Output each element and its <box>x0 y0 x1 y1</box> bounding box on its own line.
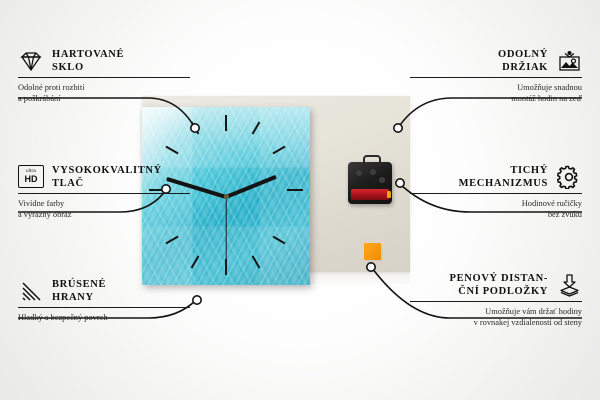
feature-edges-head: BRÚSENÉ HRANY <box>18 278 190 307</box>
feature-mechanism-title: TICHÝ MECHANIZMUS <box>459 164 548 190</box>
feature-foam-title: PENOVÝ DISTAN- ČNÍ PODLOŽKY <box>450 272 548 298</box>
feature-foam: PENOVÝ DISTAN- ČNÍ PODLOŽKY Umožňuje vám… <box>410 272 582 328</box>
hour-marker <box>191 121 200 134</box>
gear-icon <box>556 165 582 189</box>
hour-marker <box>252 121 261 134</box>
feature-holder-title: ODOLNÝ DRŽIAK <box>498 48 548 74</box>
hour-marker <box>272 146 285 155</box>
feature-glass-head: HARTOVANÉ SKLO <box>18 48 190 77</box>
feature-holder-head: ODOLNÝ DRŽIAK <box>410 48 582 77</box>
feature-glass: HARTOVANÉ SKLO Odolné proti rozbití a po… <box>18 48 190 104</box>
hour-marker <box>287 189 303 191</box>
hour-marker <box>272 236 285 245</box>
hour-marker <box>191 255 200 268</box>
feature-edges: BRÚSENÉ HRANY Hladký a bezpečný povrch <box>18 278 190 323</box>
clock-center-pin <box>224 194 229 199</box>
diamond-icon <box>18 49 44 73</box>
mechanism-detail <box>353 168 387 186</box>
feature-edges-title: BRÚSENÉ HRANY <box>52 278 106 304</box>
feature-mechanism-desc: Hodinové ručičky bez zvuku <box>410 194 582 220</box>
ultra-hd-icon: ultra HD <box>18 165 44 189</box>
beveled-edges-icon <box>18 279 44 303</box>
feature-holder: ODOLNÝ DRŽIAK Umožňuje snadnou montáž ho… <box>410 48 582 104</box>
hour-marker <box>225 115 227 131</box>
infographic-canvas: HARTOVANÉ SKLO Odolné proti rozbití a po… <box>0 0 600 400</box>
mechanism-hanger <box>363 155 381 166</box>
clock-hour-hand <box>225 175 277 199</box>
feature-print-desc: Vivídne farby a výrazný obraz <box>18 194 190 220</box>
feature-glass-desc: Odolné proti rozbití a poškrábání <box>18 78 190 104</box>
feature-edges-desc: Hladký a bezpečný povrch <box>18 308 190 323</box>
feature-holder-desc: Umožňuje snadnou montáž hodin na zeď <box>410 78 582 104</box>
wall-hanger-icon <box>556 49 582 73</box>
hour-marker <box>252 255 261 268</box>
hour-marker <box>165 236 178 245</box>
feature-print-head: ultra HD VYSOKOKVALITNÝ TLAČ <box>18 164 190 193</box>
feature-foam-desc: Umožňuje vám držať hodiny v rovnakej vzd… <box>410 302 582 328</box>
feature-glass-title: HARTOVANÉ SKLO <box>52 48 124 74</box>
foam-spacer-icon <box>556 273 582 297</box>
feature-print: ultra HD VYSOKOKVALITNÝ TLAČ Vivídne far… <box>18 164 190 220</box>
feature-mechanism-head: TICHÝ MECHANIZMUS <box>410 164 582 193</box>
feature-print-title: VYSOKOKVALITNÝ TLAČ <box>52 164 162 190</box>
feature-mechanism: TICHÝ MECHANIZMUS Hodinové ručičky bez z… <box>410 164 582 220</box>
clock-second-hand <box>225 197 226 267</box>
feature-foam-head: PENOVÝ DISTAN- ČNÍ PODLOŽKY <box>410 272 582 301</box>
node-edges <box>193 296 201 304</box>
mechanism-battery <box>351 189 389 200</box>
hour-marker <box>165 146 178 155</box>
foam-spacer-pad <box>364 243 381 260</box>
clock-mechanism <box>348 162 392 204</box>
